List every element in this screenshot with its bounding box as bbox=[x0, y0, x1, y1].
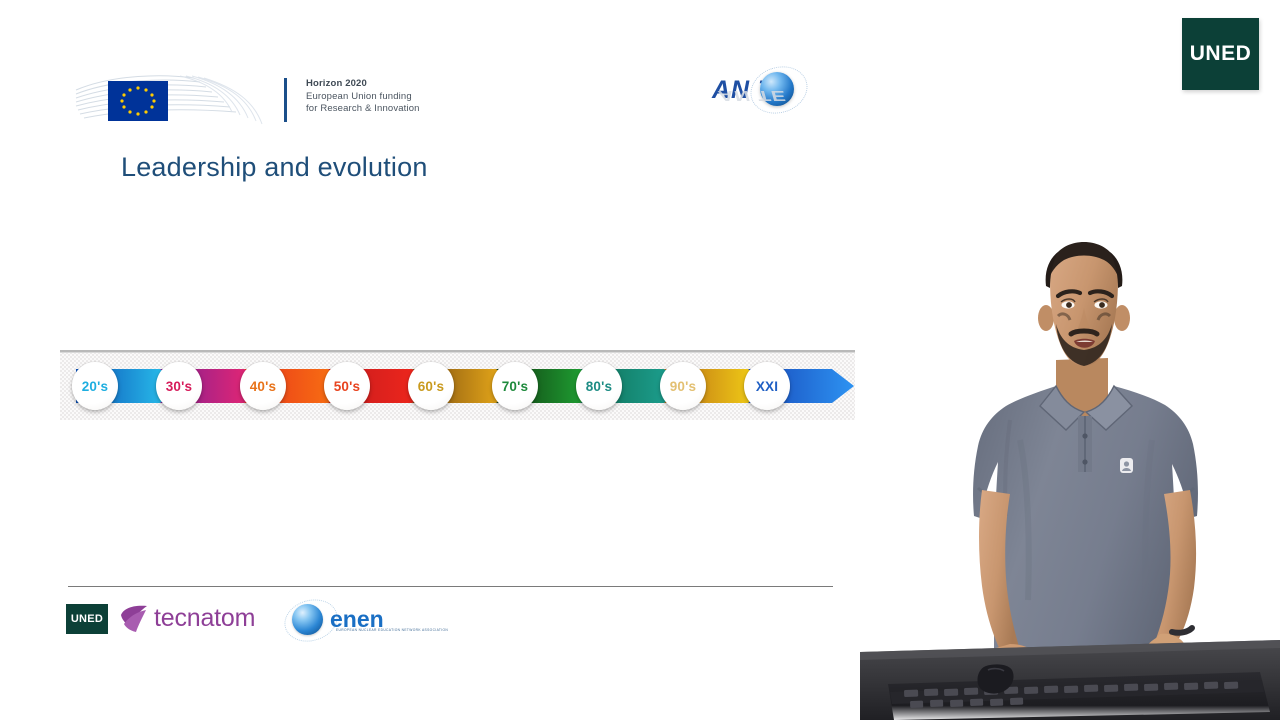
timeline-node: 90's bbox=[660, 362, 706, 410]
footer-uned-logo: UNED bbox=[66, 604, 108, 634]
tecnatom-mark-icon bbox=[118, 604, 150, 634]
timeline-node: 30's bbox=[156, 362, 202, 410]
footer-divider bbox=[68, 586, 833, 587]
horizon2020-funding-logo: Horizon 2020 European Union funding for … bbox=[74, 72, 374, 132]
logo-divider bbox=[284, 78, 287, 122]
timeline-node: 50's bbox=[324, 362, 370, 410]
timeline-node: 80's bbox=[576, 362, 622, 410]
timeline-node: 60's bbox=[408, 362, 454, 410]
timeline-node: 40's bbox=[240, 362, 286, 410]
timeline-graphic: 20's30's40's50's60's70's80's90'sXXI bbox=[60, 350, 855, 420]
tecnatom-wordmark: tecnatom bbox=[154, 604, 255, 633]
footer-enen-logo: enen EUROPEAN NUCLEAR EDUCATION NETWORK … bbox=[286, 601, 446, 639]
timeline-node: 20's bbox=[72, 362, 118, 410]
footer-uned-text: UNED bbox=[71, 613, 103, 625]
eu-stars bbox=[108, 81, 168, 121]
annette-wordmark-reflection: AN TE bbox=[718, 87, 858, 104]
uned-logo-badge: UNED bbox=[1182, 18, 1259, 90]
enen-subtitle: EUROPEAN NUCLEAR EDUCATION NETWORK ASSOC… bbox=[336, 628, 448, 632]
eu-swoosh-decoration bbox=[74, 72, 270, 130]
timeline-node: XXI bbox=[744, 362, 790, 410]
timeline-node: 70's bbox=[492, 362, 538, 410]
timeline-chevrons: 20's30's40's50's60's70's80's90'sXXI bbox=[60, 352, 855, 420]
presenter-video-overlay bbox=[860, 240, 1280, 720]
h2020-line-3: for Research & Innovation bbox=[306, 103, 476, 116]
uned-logo-text: UNED bbox=[1190, 42, 1252, 66]
enen-sphere-icon bbox=[292, 604, 323, 635]
horizon2020-text: Horizon 2020 European Union funding for … bbox=[306, 78, 476, 116]
h2020-line-2: European Union funding bbox=[306, 91, 476, 104]
h2020-line-1: Horizon 2020 bbox=[306, 78, 476, 91]
page-title: Leadership and evolution bbox=[121, 152, 428, 183]
annette-project-logo: AN TE AN TE bbox=[712, 72, 852, 128]
